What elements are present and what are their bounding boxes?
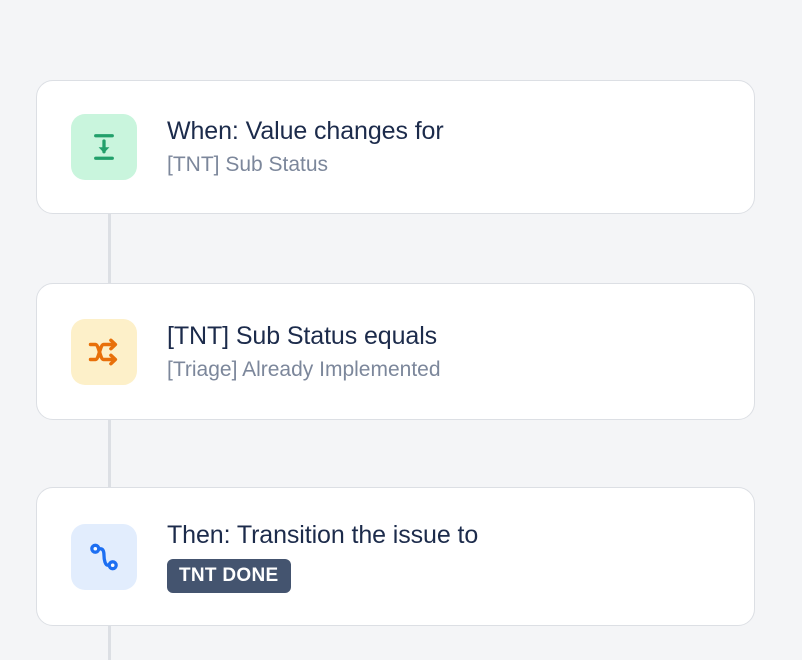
rule-step-condition[interactable]: [TNT] Sub Status equals [Triage] Already… (36, 283, 755, 420)
transition-path-icon (71, 524, 137, 590)
connector-line-trigger-to-condition (108, 213, 111, 283)
status-badge: TNT DONE (167, 559, 291, 593)
rule-step-title: [TNT] Sub Status equals (167, 321, 441, 351)
rule-step-subtitle: [Triage] Already Implemented (167, 357, 441, 383)
automation-rule-builder: When: Value changes for [TNT] Sub Status… (0, 0, 802, 660)
rule-step-trigger[interactable]: When: Value changes for [TNT] Sub Status (36, 80, 755, 214)
rule-step-title: When: Value changes for (167, 116, 444, 146)
connector-line-after-action (108, 625, 111, 660)
rule-step-trigger-text: When: Value changes for [TNT] Sub Status (167, 116, 444, 178)
rule-step-action[interactable]: Then: Transition the issue to TNT DONE (36, 487, 755, 626)
rule-step-title: Then: Transition the issue to (167, 520, 478, 550)
rule-step-action-text: Then: Transition the issue to TNT DONE (167, 520, 478, 593)
connector-line-condition-to-action (108, 419, 111, 487)
shuffle-icon (71, 319, 137, 385)
rule-step-subtitle: [TNT] Sub Status (167, 152, 444, 178)
rule-step-condition-text: [TNT] Sub Status equals [Triage] Already… (167, 321, 441, 383)
value-changes-icon (71, 114, 137, 180)
